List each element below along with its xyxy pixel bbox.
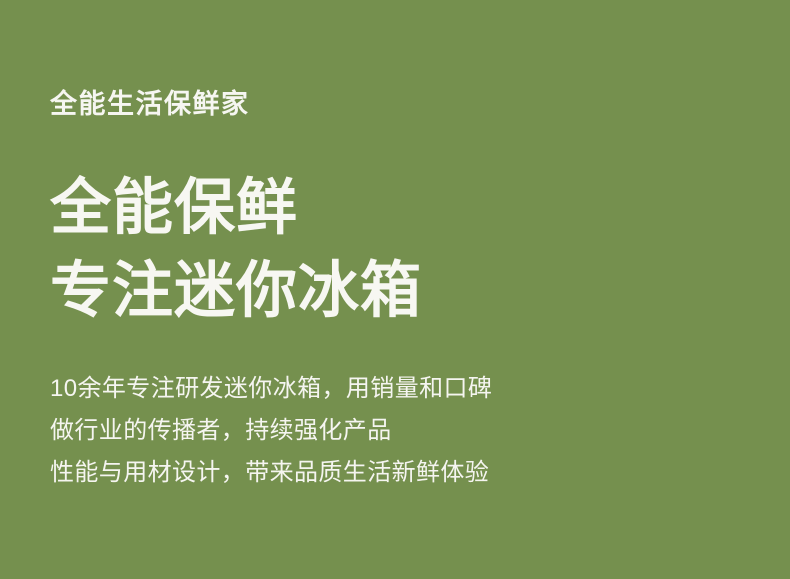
description-line-1: 10余年专注研发迷你冰箱，用销量和口碑 (50, 368, 492, 410)
headline-line-1: 全能保鲜 (50, 166, 422, 249)
banner-eyebrow: 全能生活保鲜家 (50, 86, 250, 122)
headline-line-2: 专注迷你冰箱 (50, 249, 422, 332)
banner-description: 10余年专注研发迷你冰箱，用销量和口碑 做行业的传播者，持续强化产品 性能与用材… (50, 368, 492, 494)
description-line-3: 性能与用材设计，带来品质生活新鲜体验 (50, 452, 492, 494)
banner-content: 全能生活保鲜家 全能保鲜 专注迷你冰箱 10余年专注研发迷你冰箱，用销量和口碑 … (50, 0, 750, 579)
promo-banner: 全能生活保鲜家 全能保鲜 专注迷你冰箱 10余年专注研发迷你冰箱，用销量和口碑 … (0, 0, 790, 579)
description-line-2: 做行业的传播者，持续强化产品 (50, 410, 492, 452)
banner-headline: 全能保鲜 专注迷你冰箱 (50, 166, 422, 332)
